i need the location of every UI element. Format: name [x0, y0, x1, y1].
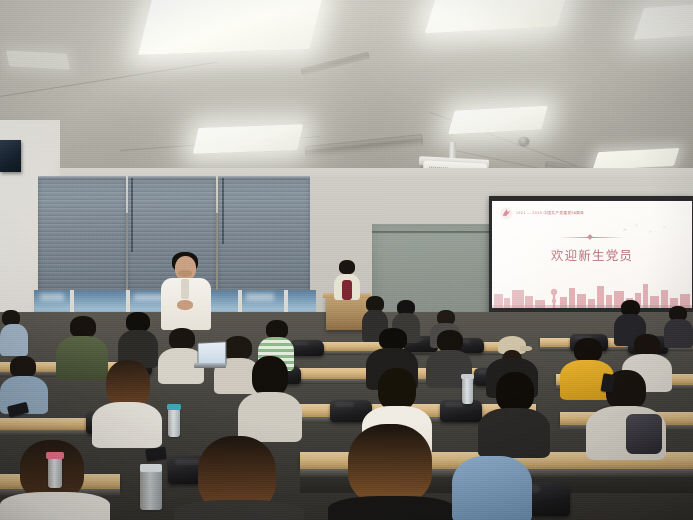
bottle-cap[interactable] [46, 452, 64, 459]
skyline-graphic [492, 274, 692, 308]
audience-member [92, 360, 162, 444]
bottle-cap[interactable] [461, 374, 474, 379]
bird-icon: ︿ [663, 224, 666, 228]
audience-member [238, 356, 302, 440]
audience-member [174, 436, 304, 520]
bird-icon: ︿ [635, 222, 638, 226]
water-bottle[interactable] [140, 470, 162, 510]
audience-member [328, 424, 456, 520]
roller-blind[interactable] [218, 176, 310, 294]
audience-member [118, 312, 158, 366]
audience-member-denim [452, 432, 532, 520]
water-bottle[interactable] [168, 409, 180, 437]
laptop-base[interactable] [194, 363, 226, 368]
backpack [626, 414, 662, 454]
water-bottle[interactable] [48, 458, 62, 488]
projection-screen: 1921 — 2019 中国共产党建党98周年 欢迎新生党员 ︿ ︿ ︿ ︿ [489, 196, 693, 314]
communist-party-emblem-icon [500, 207, 513, 220]
ceiling-light [138, 0, 324, 55]
chair[interactable] [290, 340, 324, 356]
bottle-cap[interactable] [167, 404, 181, 410]
ceiling-light [6, 50, 70, 69]
slide-divider [558, 237, 624, 238]
speaker-hands [177, 300, 193, 310]
wall-speaker [0, 140, 21, 172]
standing-speaker [158, 252, 214, 330]
bird-icon: ︿ [623, 226, 627, 232]
chair[interactable] [440, 400, 482, 422]
smoke-detector [519, 137, 529, 145]
classroom-photo: 1921 — 2019 中国共产党建党98周年 欢迎新生党员 ︿ ︿ ︿ ︿ [0, 0, 693, 520]
audience-member [0, 310, 28, 354]
slide-main-title: 欢迎新生党员 [492, 245, 692, 264]
ceiling [0, 0, 693, 185]
slide-header-text: 1921 — 2019 中国共产党建党98周年 [516, 211, 584, 216]
slide-content: 1921 — 2019 中国共产党建党98周年 欢迎新生党员 ︿ ︿ ︿ ︿ [492, 201, 692, 308]
water-bottle[interactable] [462, 378, 473, 404]
bottle-cap[interactable] [140, 464, 162, 472]
audience-member-backpack [586, 370, 666, 458]
slide-divider-diamond [587, 234, 593, 240]
bird-icon: ︿ [649, 229, 652, 233]
roller-blind[interactable] [38, 176, 126, 294]
podium-attendant [332, 262, 362, 302]
projector-mount [449, 142, 456, 158]
chalkboard [372, 224, 492, 324]
ceiling-light [193, 124, 303, 154]
